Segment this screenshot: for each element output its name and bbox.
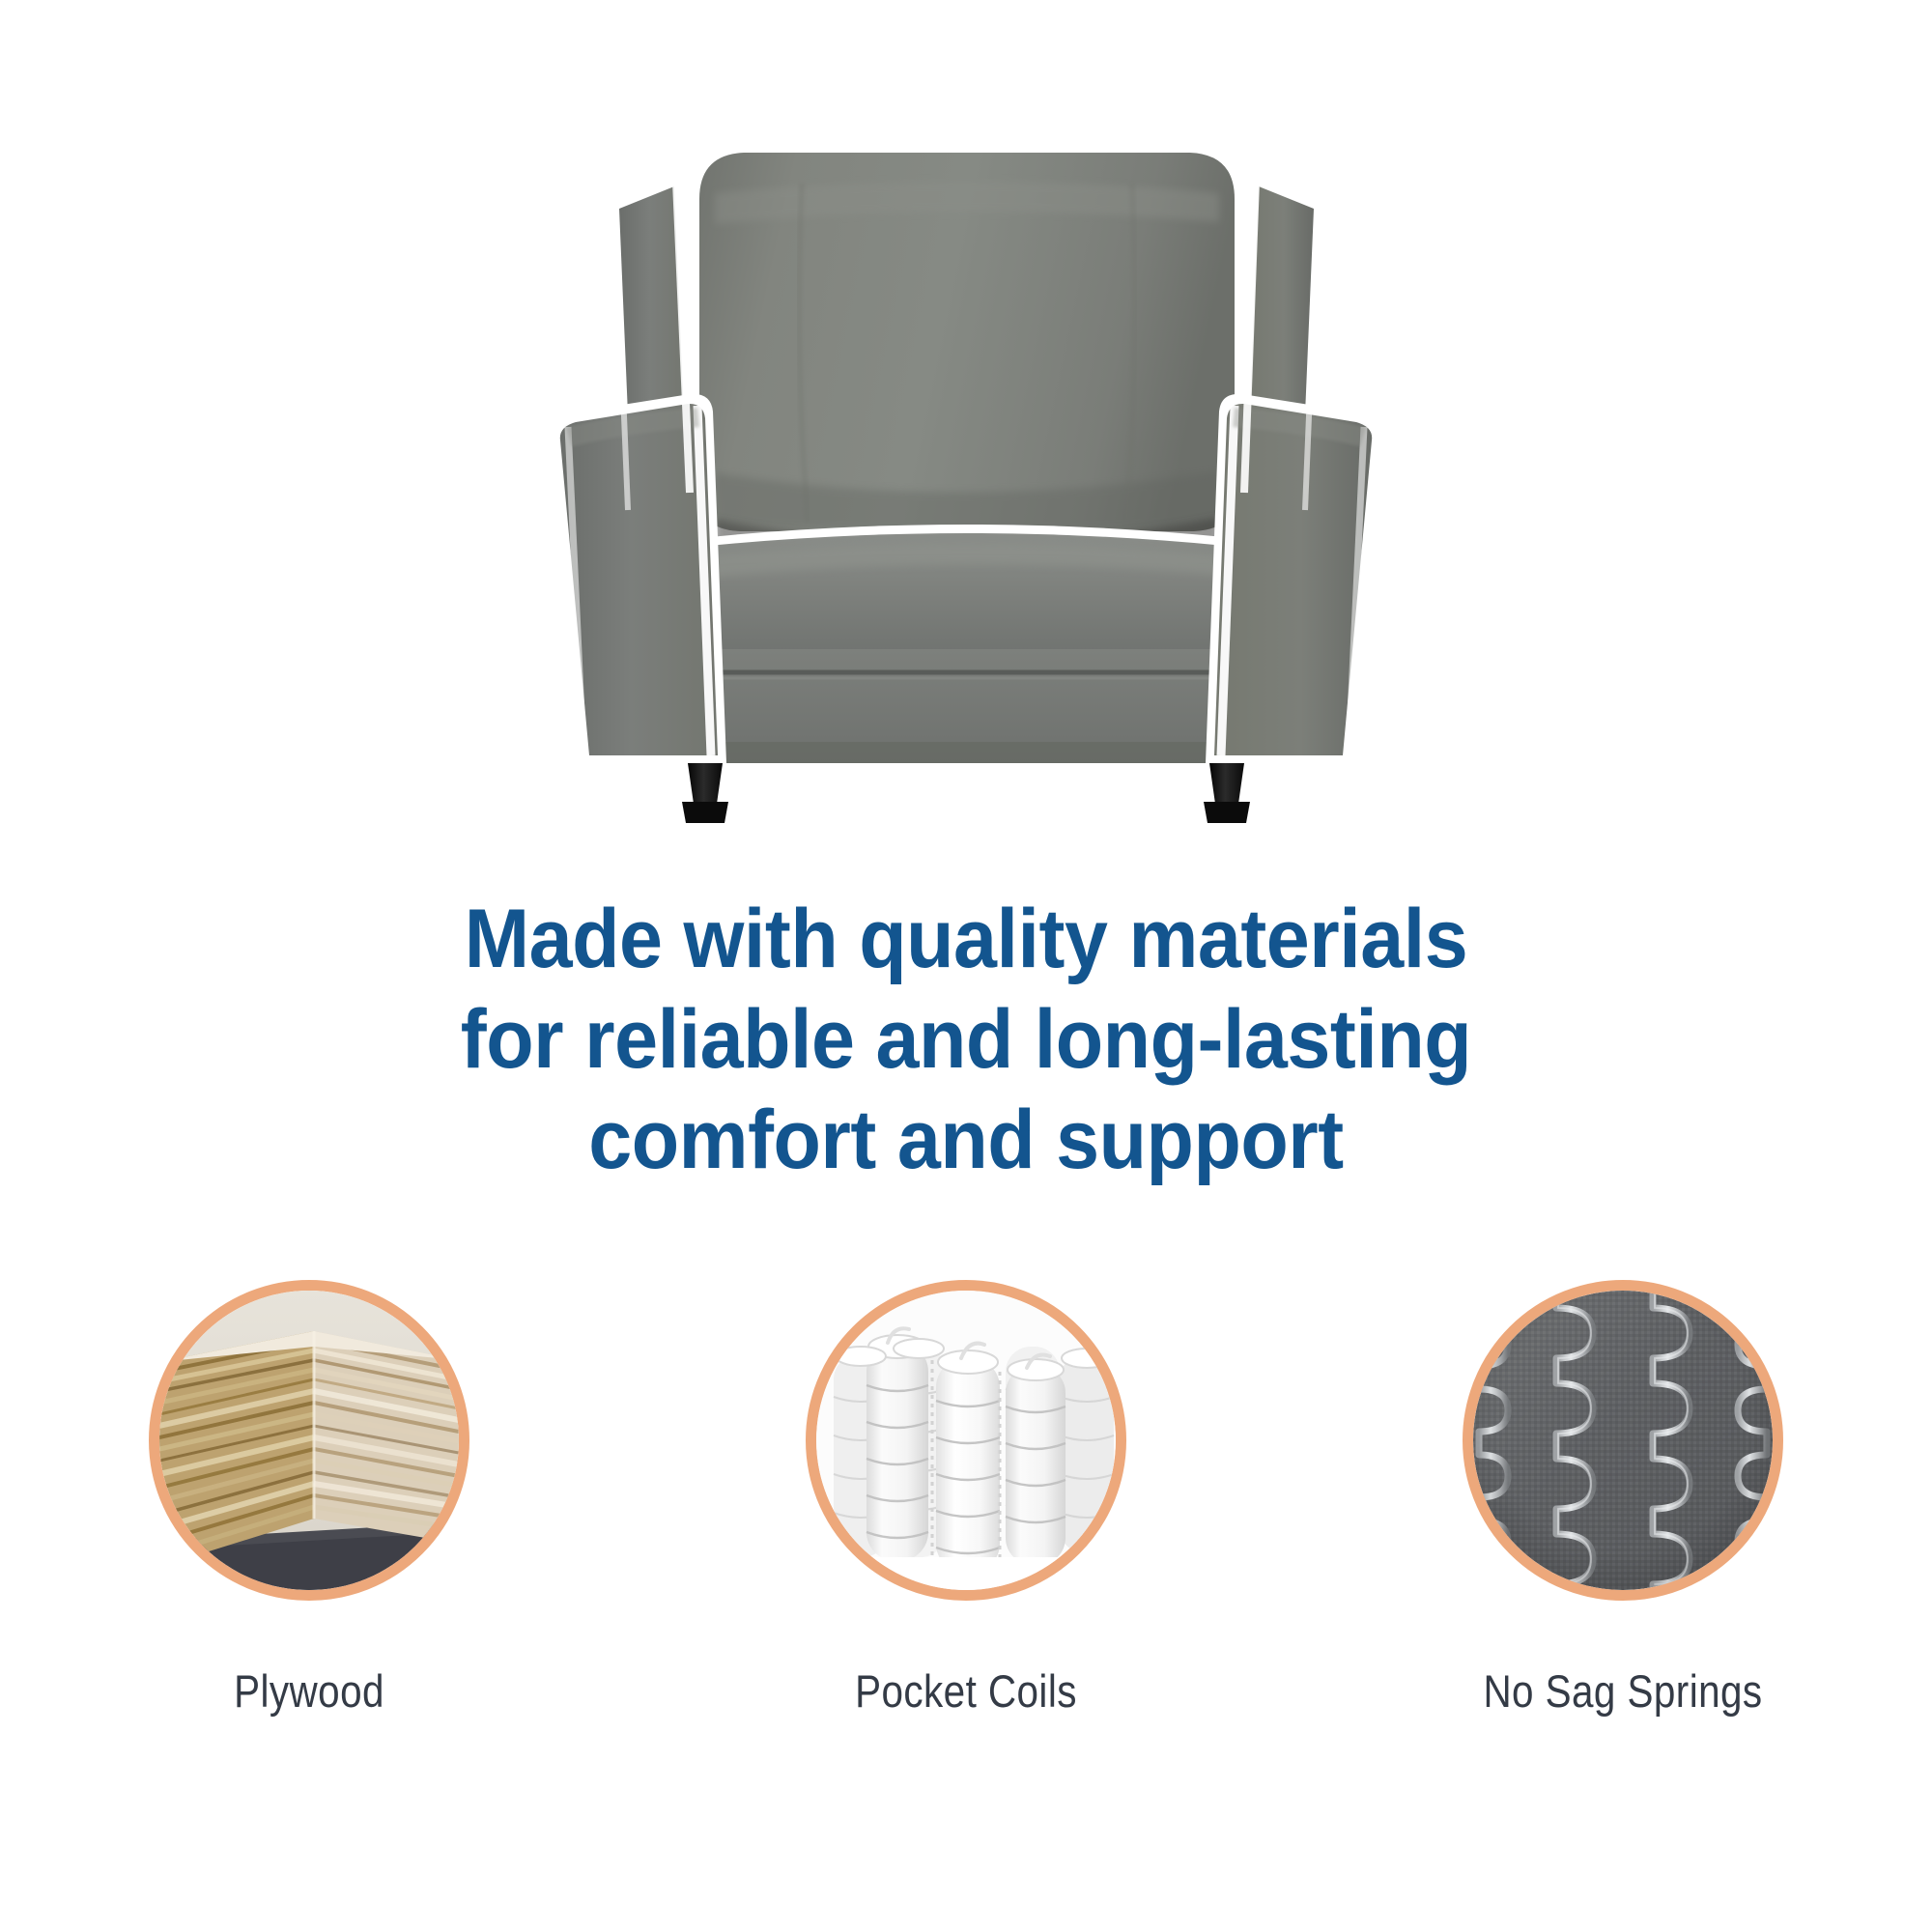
chair-leg-right — [1204, 763, 1250, 823]
feature-list: Plywood — [0, 1280, 1932, 1860]
feature-label-pocket-coils: Pocket Coils — [783, 1664, 1149, 1718]
feature-label-plywood: Plywood — [127, 1664, 492, 1718]
feature-circle-no-sag-springs — [1463, 1280, 1783, 1601]
feature-item-no-sag-springs: No Sag Springs — [1410, 1280, 1835, 1718]
no-sag-springs-icon — [1473, 1291, 1773, 1590]
feature-circle-pocket-coils — [806, 1280, 1126, 1601]
circle-border-plywood — [149, 1280, 469, 1601]
feature-label-no-sag-springs: No Sag Springs — [1440, 1664, 1805, 1718]
headline-line-2: for reliable and long-lasting — [58, 989, 1874, 1090]
feature-item-plywood: Plywood — [97, 1280, 522, 1718]
headline-line-3: comfort and support — [58, 1090, 1874, 1190]
recliner-chair-illustration — [483, 87, 1449, 850]
plywood-layers-icon — [159, 1291, 459, 1590]
circle-border-no-sag-springs — [1463, 1280, 1783, 1601]
page-headline: Made with quality materials for reliable… — [58, 889, 1874, 1190]
headline-line-1: Made with quality materials — [58, 889, 1874, 989]
feature-circle-plywood — [149, 1280, 469, 1601]
circle-border-pocket-coils — [806, 1280, 1126, 1601]
hero-product-image — [0, 0, 1932, 869]
chair-leg-left — [682, 763, 728, 823]
pocket-coils-icon — [816, 1291, 1116, 1590]
feature-item-pocket-coils: Pocket Coils — [753, 1280, 1179, 1718]
